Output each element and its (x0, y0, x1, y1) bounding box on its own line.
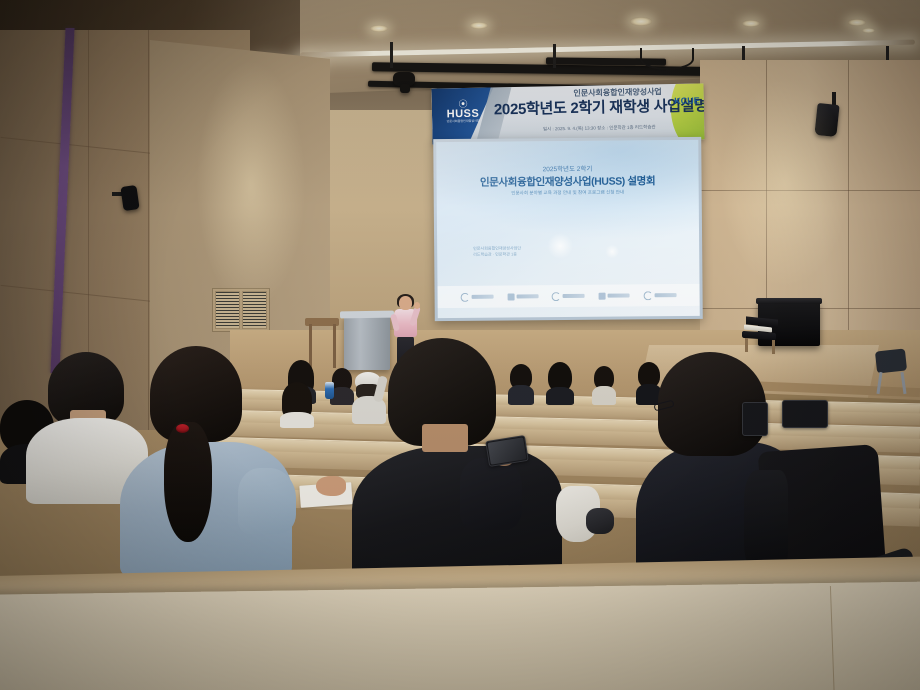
partner-logo (644, 291, 677, 300)
partner-logo-mark-icon (552, 292, 561, 301)
event-banner: ⦿ HUSS 인문사회융합인재양성사업 인문사회융합인재양성사업 2025학년도… (431, 83, 704, 144)
presenter-head (399, 296, 412, 310)
slide-title: 인문사회융합인재양성사업(HUSS) 설명회 (437, 173, 699, 190)
arm (460, 458, 522, 530)
downlight-icon (470, 22, 488, 29)
audience-member-black-hoodie (352, 338, 562, 588)
downlight-icon (848, 19, 866, 26)
partner-logo (599, 292, 630, 299)
huss-logo-sub: 인문사회융합인재양성사업 (440, 120, 486, 124)
backpack-strap (744, 470, 788, 570)
presentation-slide: 2025학년도 2학기 인문사회융합인재양성사업(HUSS) 설명회 인문사회 … (436, 140, 700, 318)
lectern-top (340, 311, 394, 319)
phone-screen (488, 437, 527, 464)
downlight-icon (862, 28, 875, 33)
banner-meta: 일시 : 2025. 9. 4.(목) 13:30 장소 : 인문학관 1층 리… (494, 123, 704, 133)
piano-top-lid (756, 298, 822, 304)
dark-object (742, 402, 768, 436)
ponytail (164, 422, 212, 542)
partner-logo-text (516, 294, 538, 298)
neck (422, 424, 468, 452)
red-scrunchie (176, 424, 189, 433)
partner-logo-mark-icon (644, 291, 653, 300)
torso (592, 386, 616, 405)
foreground-desk (0, 581, 920, 690)
spotlight-icon (400, 84, 410, 93)
slide-orb-graphic (605, 245, 619, 259)
left-wall-speaker (120, 185, 139, 211)
jacket-fold (586, 508, 614, 534)
vent-louver (215, 291, 240, 329)
presenter-hand (414, 302, 420, 309)
partner-logo (507, 293, 538, 300)
partner-logo (460, 292, 493, 301)
audience-member-denim-ponytail (120, 346, 292, 576)
writing-hand (316, 476, 346, 498)
white-jacket (556, 486, 614, 542)
truss-rod (390, 42, 393, 68)
audience-member (592, 366, 616, 404)
dark-object (782, 400, 828, 428)
slide-partner-logo-bar (437, 284, 699, 308)
vent-louver (242, 291, 267, 329)
stage-chair (875, 348, 907, 373)
partner-logo-mark-icon (460, 292, 469, 301)
side-table-leg (333, 324, 336, 368)
lecture-hall-photo: ⦿ HUSS 인문사회융합인재양성사업 인문사회융합인재양성사업 2025학년도… (0, 0, 920, 690)
slide-orb-graphic (547, 233, 573, 259)
sleeve (238, 468, 296, 534)
partner-logo-text (471, 295, 493, 299)
downlight-icon (370, 25, 388, 32)
slide-footnote: 인문사회융합인재양성사업단 리드학습관 · 인문학관 1층 (473, 245, 521, 257)
kcue-logo: KCUE (674, 95, 700, 105)
partner-logo (552, 291, 585, 300)
partner-logo-text (655, 293, 677, 297)
right-wall-speaker (814, 103, 839, 137)
downlight-icon (742, 20, 760, 27)
projection-screen: 2025학년도 2학기 인문사회융합인재양성사업(HUSS) 설명회 인문사회 … (433, 137, 703, 321)
partner-logo-text (608, 293, 630, 297)
banner-title: 2025학년도 2학기 재학생 사업설명회 (494, 94, 704, 119)
partner-logo-mark-icon (599, 292, 606, 299)
water-bottle (325, 382, 334, 399)
hanging-cable (640, 48, 694, 70)
truss-rod (553, 44, 556, 68)
partner-logo-text (563, 294, 585, 298)
downlight-icon (630, 17, 652, 26)
piano-bench-leg (745, 338, 748, 352)
wall-air-vent (212, 288, 270, 332)
hand (316, 476, 346, 496)
huss-logo: ⦿ HUSS 인문사회융합인재양성사업 (440, 100, 486, 124)
partner-logo-mark-icon (507, 293, 514, 300)
